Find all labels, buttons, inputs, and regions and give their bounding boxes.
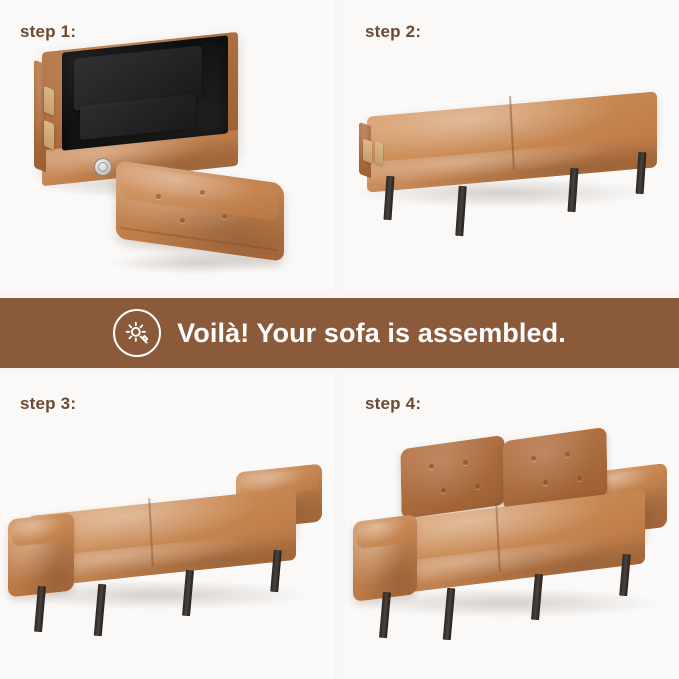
back-tuft [429, 464, 434, 469]
panel-step-3: step 3: [0, 372, 334, 679]
back-tuft [565, 452, 570, 457]
back-tuft [441, 488, 446, 493]
panel-step-4: step 4: [345, 372, 679, 679]
assembled-banner: Voilà! Your sofa is assembled. [0, 298, 679, 368]
panel-step-2: step 2: [345, 0, 679, 290]
strap-left-upper [44, 86, 54, 116]
back-tuft [543, 480, 548, 485]
assembly-collage: step 1: [0, 0, 679, 679]
back-tuft [531, 456, 536, 461]
gear-wrench-icon [113, 309, 161, 357]
back-tuft [577, 476, 582, 481]
back-tuft [475, 484, 480, 489]
banner-text: Voilà! Your sofa is assembled. [177, 318, 566, 349]
cushion-tuft [200, 190, 205, 195]
folded-base-side [34, 60, 46, 173]
step-1-label: step 1: [20, 22, 76, 42]
back-tuft [463, 460, 468, 465]
strap-left-lower [44, 120, 54, 150]
strap-left [363, 138, 372, 163]
strap-left-2 [375, 141, 383, 166]
back-cushion-left [400, 435, 505, 519]
leg [383, 176, 394, 220]
step-2-label: step 2: [365, 22, 421, 42]
step-4-label: step 4: [365, 394, 421, 414]
cushion-tuft [222, 214, 227, 219]
cushion-tuft [156, 194, 161, 199]
panel-step-1: step 1: [0, 0, 334, 290]
panel-divider-horizontal [0, 290, 679, 298]
step-3-label: step 3: [20, 394, 76, 414]
cushion-tuft [180, 218, 185, 223]
cover-button-icon [94, 158, 112, 176]
